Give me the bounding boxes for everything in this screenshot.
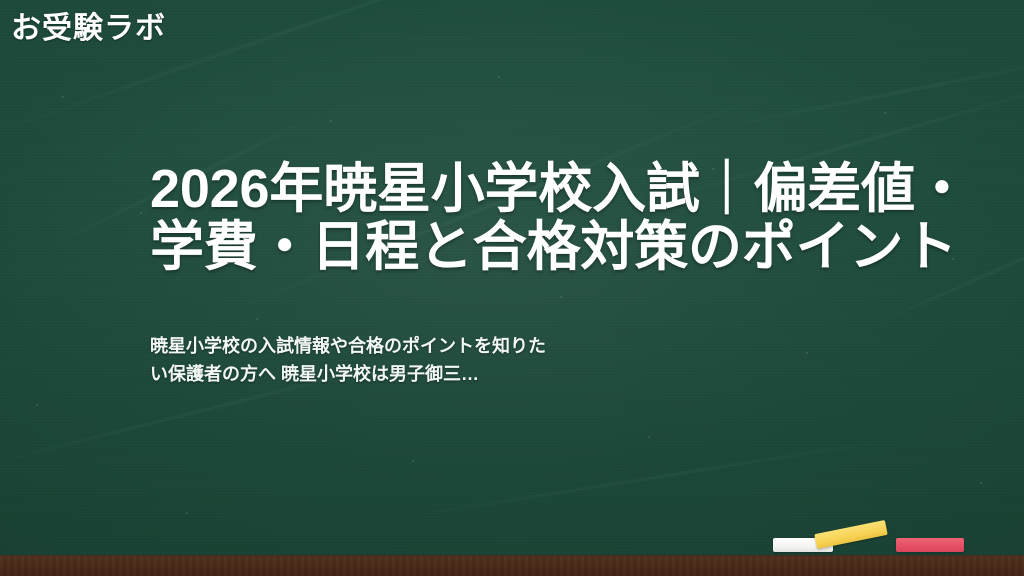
page-title-line-2: 学費・日程と合格対策のポイント bbox=[150, 218, 970, 276]
page-excerpt: 暁星小学校の入試情報や合格のポイントを知りた い保護者の方へ 暁星小学校は男子御… bbox=[150, 332, 970, 388]
red-chalk-icon bbox=[896, 538, 964, 552]
page-excerpt-line-2: い保護者の方へ 暁星小学校は男子御三… bbox=[150, 360, 970, 388]
thumbnail-canvas: お受験ラボ 2026年暁星小学校入試｜偏差値・ 学費・日程と合格対策のポイント … bbox=[0, 0, 1024, 576]
page-title: 2026年暁星小学校入試｜偏差値・ 学費・日程と合格対策のポイント bbox=[150, 160, 970, 276]
page-excerpt-line-1: 暁星小学校の入試情報や合格のポイントを知りた bbox=[150, 332, 970, 360]
chalk-tray-edge bbox=[0, 555, 1024, 557]
chalk-tray bbox=[0, 555, 1024, 576]
page-title-line-1: 2026年暁星小学校入試｜偏差値・ bbox=[150, 160, 970, 218]
headline-block: 2026年暁星小学校入試｜偏差値・ 学費・日程と合格対策のポイント 暁星小学校の… bbox=[150, 160, 970, 388]
site-logo[interactable]: お受験ラボ bbox=[11, 10, 166, 48]
